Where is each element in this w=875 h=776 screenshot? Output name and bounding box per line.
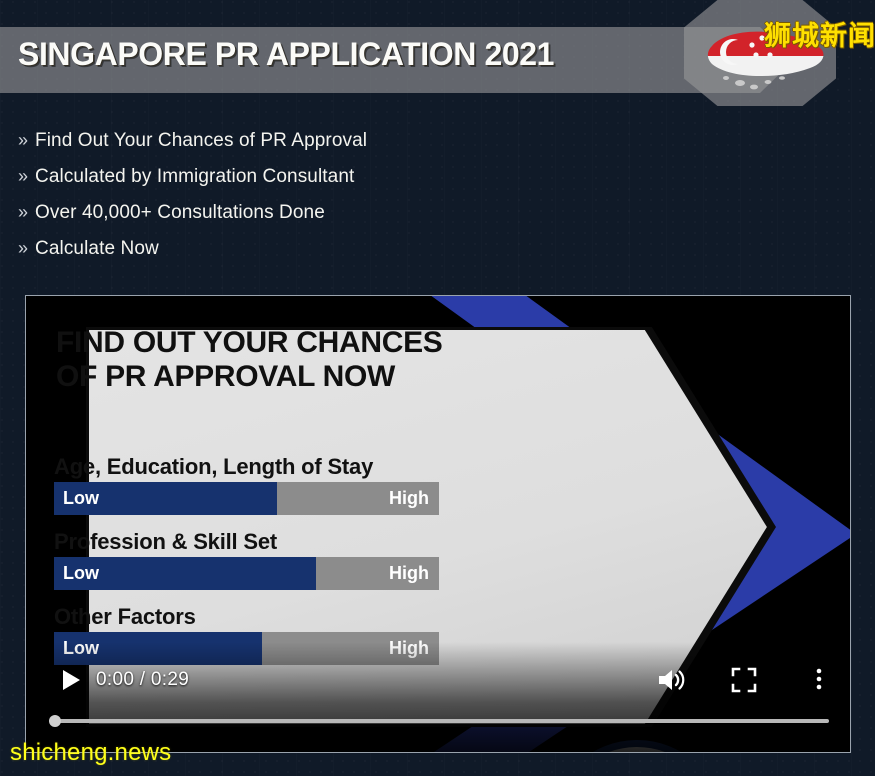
factor-label: Other Factors	[54, 604, 464, 630]
bullet-marker-icon: »	[18, 131, 28, 149]
factor-low-label: Low	[63, 488, 99, 509]
factor-low-label: Low	[63, 563, 99, 584]
video-headline: FIND OUT YOUR CHANCES OF PR APPROVAL NOW	[56, 326, 443, 393]
list-item: » Over 40,000+ Consultations Done	[18, 202, 578, 224]
time-display: 0:00 / 0:29	[96, 669, 189, 691]
list-item: » Calculated by Immigration Consultant	[18, 166, 578, 188]
more-options-icon	[807, 664, 831, 694]
chances-badge: Chances of Approval ?	[550, 740, 724, 752]
factor-item: Other Factors Low High	[54, 604, 464, 665]
feature-bullet-list: » Find Out Your Chances of PR Approval »…	[18, 130, 578, 274]
bullet-text: Over 40,000+ Consultations Done	[35, 202, 325, 224]
progress-bar-handle[interactable]	[49, 715, 61, 727]
volume-button[interactable]	[657, 666, 687, 694]
factor-item: Age, Education, Length of Stay Low High	[54, 454, 464, 515]
bullet-text: Calculated by Immigration Consultant	[35, 166, 354, 188]
factor-high-label: High	[389, 488, 429, 509]
play-button[interactable]	[53, 663, 87, 697]
bullet-marker-icon: »	[18, 203, 28, 221]
video-headline-line2: OF PR APPROVAL NOW	[56, 360, 443, 394]
fullscreen-button[interactable]	[730, 666, 758, 694]
factor-list: Age, Education, Length of Stay Low High …	[54, 454, 464, 679]
bullet-text: Find Out Your Chances of PR Approval	[35, 130, 367, 152]
factor-label: Age, Education, Length of Stay	[54, 454, 464, 480]
page-header: SINGAPORE PR APPLICATION 2021	[0, 0, 875, 118]
volume-icon	[657, 666, 687, 694]
video-canvas[interactable]: FIND OUT YOUR CHANCES OF PR APPROVAL NOW…	[26, 296, 850, 752]
factor-item: Profession & Skill Set Low High	[54, 529, 464, 590]
factor-bar: Low High	[54, 557, 439, 590]
factor-high-label: High	[389, 638, 429, 659]
fullscreen-icon	[730, 666, 758, 694]
video-controls-bar[interactable]: 0:00 / 0:29	[26, 658, 850, 704]
list-item: » Calculate Now	[18, 238, 578, 260]
list-item: » Find Out Your Chances of PR Approval	[18, 130, 578, 152]
bullet-marker-icon: »	[18, 167, 28, 185]
more-options-button[interactable]	[807, 664, 831, 694]
factor-label: Profession & Skill Set	[54, 529, 464, 555]
factor-high-label: High	[389, 563, 429, 584]
factor-bar: Low High	[54, 482, 439, 515]
page-title: SINGAPORE PR APPLICATION 2021	[18, 36, 554, 73]
site-watermark: shicheng.news	[10, 739, 171, 767]
logo-chinese-text: 狮城新闻	[764, 14, 875, 53]
video-player[interactable]: FIND OUT YOUR CHANCES OF PR APPROVAL NOW…	[25, 295, 851, 753]
progress-bar-track[interactable]	[49, 719, 829, 723]
factor-low-label: Low	[63, 638, 99, 659]
video-headline-line1: FIND OUT YOUR CHANCES	[56, 326, 443, 360]
bullet-text: Calculate Now	[35, 238, 159, 260]
site-logo[interactable]: 狮城新闻	[676, 2, 875, 110]
play-icon	[53, 663, 87, 697]
bullet-marker-icon: »	[18, 239, 28, 257]
